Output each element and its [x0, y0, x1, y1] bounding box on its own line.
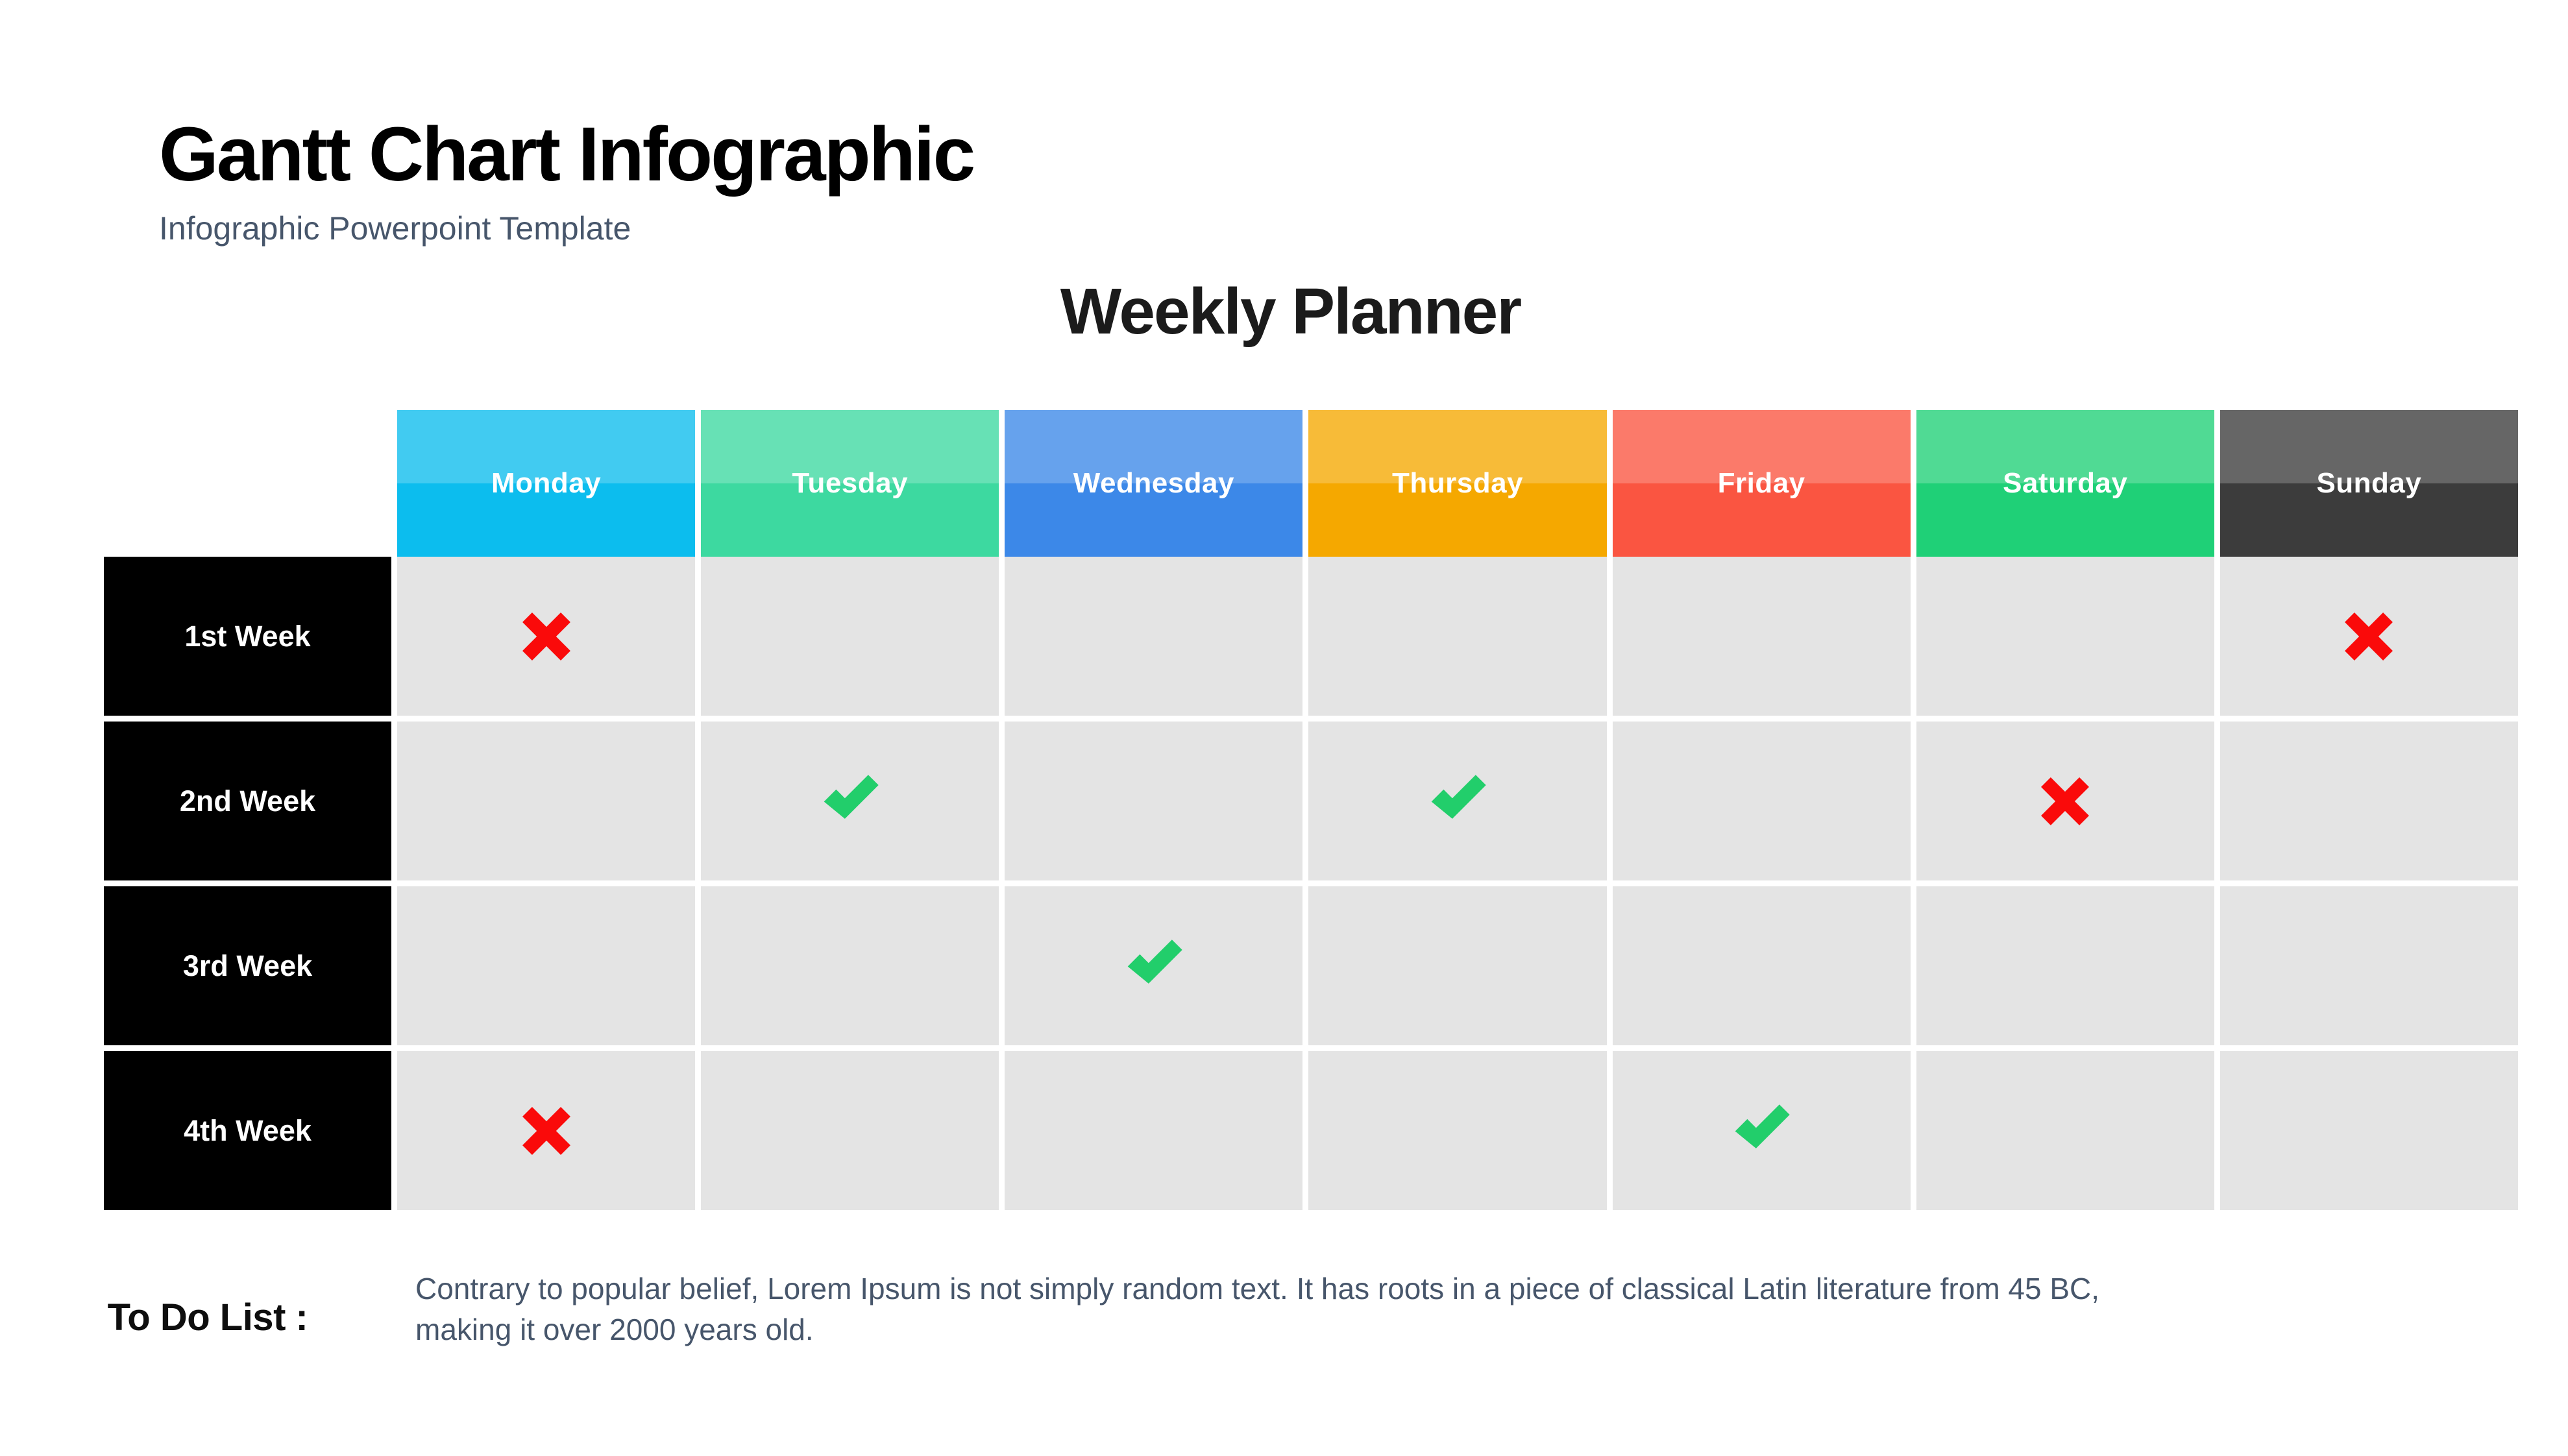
planner-cell-saturday-week2[interactable]	[1916, 722, 2214, 880]
day-header-wednesday[interactable]: Wednesday	[1005, 410, 1302, 557]
check-icon	[819, 770, 881, 832]
day-header-thursday[interactable]: Thursday	[1308, 410, 1606, 557]
day-header-row: MondayTuesdayWednesdayThursdayFridaySatu…	[104, 410, 2518, 557]
week-label-3: 3rd Week	[104, 886, 391, 1045]
planner-cell-wednesday-week4[interactable]	[1005, 1051, 1302, 1210]
planner-cell-sunday-week1[interactable]	[2220, 557, 2518, 716]
cross-icon	[515, 605, 578, 668]
day-header-saturday[interactable]: Saturday	[1916, 410, 2214, 557]
planner-cell-friday-week2[interactable]	[1613, 722, 1911, 880]
planner-cell-monday-week2[interactable]	[397, 722, 695, 880]
planner-cell-monday-week1[interactable]	[397, 557, 695, 716]
day-header-tuesday[interactable]: Tuesday	[701, 410, 999, 557]
planner-cell-wednesday-week2[interactable]	[1005, 722, 1302, 880]
planner-cell-tuesday-week2[interactable]	[701, 722, 999, 880]
day-header-label: Sunday	[2316, 469, 2421, 498]
planner-cell-wednesday-week3[interactable]	[1005, 886, 1302, 1045]
planner-cell-saturday-week3[interactable]	[1916, 886, 2214, 1045]
day-header-label: Thursday	[1392, 469, 1523, 498]
planner-cell-sunday-week4[interactable]	[2220, 1051, 2518, 1210]
page-subtitle: Infographic Powerpoint Template	[159, 209, 973, 248]
todo-list-label: To Do List :	[0, 1268, 415, 1339]
day-header-monday[interactable]: Monday	[397, 410, 695, 557]
table-row: 1st Week	[104, 557, 2518, 716]
week-label-1: 1st Week	[104, 557, 391, 716]
day-header-sunday[interactable]: Sunday	[2220, 410, 2518, 557]
planner-cell-tuesday-week3[interactable]	[701, 886, 999, 1045]
planner-title: Weekly Planner	[0, 276, 2568, 347]
cross-icon	[515, 1100, 578, 1162]
planner-cell-saturday-week4[interactable]	[1916, 1051, 2214, 1210]
planner-cell-monday-week4[interactable]	[397, 1051, 695, 1210]
planner-cell-sunday-week2[interactable]	[2220, 722, 2518, 880]
planner-cell-thursday-week4[interactable]	[1308, 1051, 1606, 1210]
day-header-label: Wednesday	[1073, 469, 1234, 498]
day-header-label: Monday	[491, 469, 601, 498]
day-header-label: Friday	[1718, 469, 1805, 498]
check-icon	[1123, 935, 1185, 997]
planner-cell-wednesday-week1[interactable]	[1005, 557, 1302, 716]
planner-cell-thursday-week3[interactable]	[1308, 886, 1606, 1045]
check-icon	[1426, 770, 1489, 832]
planner-cell-friday-week1[interactable]	[1613, 557, 1911, 716]
grid-corner-spacer	[104, 410, 391, 557]
week-label-2: 2nd Week	[104, 722, 391, 880]
cross-icon	[2338, 605, 2400, 668]
planner-cell-sunday-week3[interactable]	[2220, 886, 2518, 1045]
planner-cell-friday-week4[interactable]	[1613, 1051, 1911, 1210]
planner-cell-thursday-week2[interactable]	[1308, 722, 1606, 880]
check-icon	[1730, 1100, 1792, 1162]
day-header-label: Tuesday	[792, 469, 908, 498]
cross-icon	[2034, 770, 2096, 832]
planner-cell-tuesday-week1[interactable]	[701, 557, 999, 716]
planner-cell-tuesday-week4[interactable]	[701, 1051, 999, 1210]
day-header-label: Saturday	[2003, 469, 2127, 498]
page-title: Gantt Chart Infographic	[159, 114, 973, 196]
brand-header: Gantt Chart Infographic Infographic Powe…	[159, 114, 973, 248]
planner-cell-thursday-week1[interactable]	[1308, 557, 1606, 716]
weekly-planner-grid: MondayTuesdayWednesdayThursdayFridaySatu…	[104, 410, 2518, 1210]
todo-footer: To Do List : Contrary to popular belief,…	[0, 1268, 2568, 1351]
table-row: 4th Week	[104, 1051, 2518, 1210]
planner-cell-saturday-week1[interactable]	[1916, 557, 2214, 716]
table-row: 3rd Week	[104, 886, 2518, 1045]
planner-title-text: Weekly Planner	[1060, 276, 1521, 347]
slide-canvas: Gantt Chart Infographic Infographic Powe…	[0, 0, 2568, 1456]
week-label-4: 4th Week	[104, 1051, 391, 1210]
day-header-friday[interactable]: Friday	[1613, 410, 1911, 557]
todo-list-body: Contrary to popular belief, Lorem Ipsum …	[415, 1268, 2284, 1351]
planner-cell-friday-week3[interactable]	[1613, 886, 1911, 1045]
table-row: 2nd Week	[104, 722, 2518, 880]
planner-cell-monday-week3[interactable]	[397, 886, 695, 1045]
